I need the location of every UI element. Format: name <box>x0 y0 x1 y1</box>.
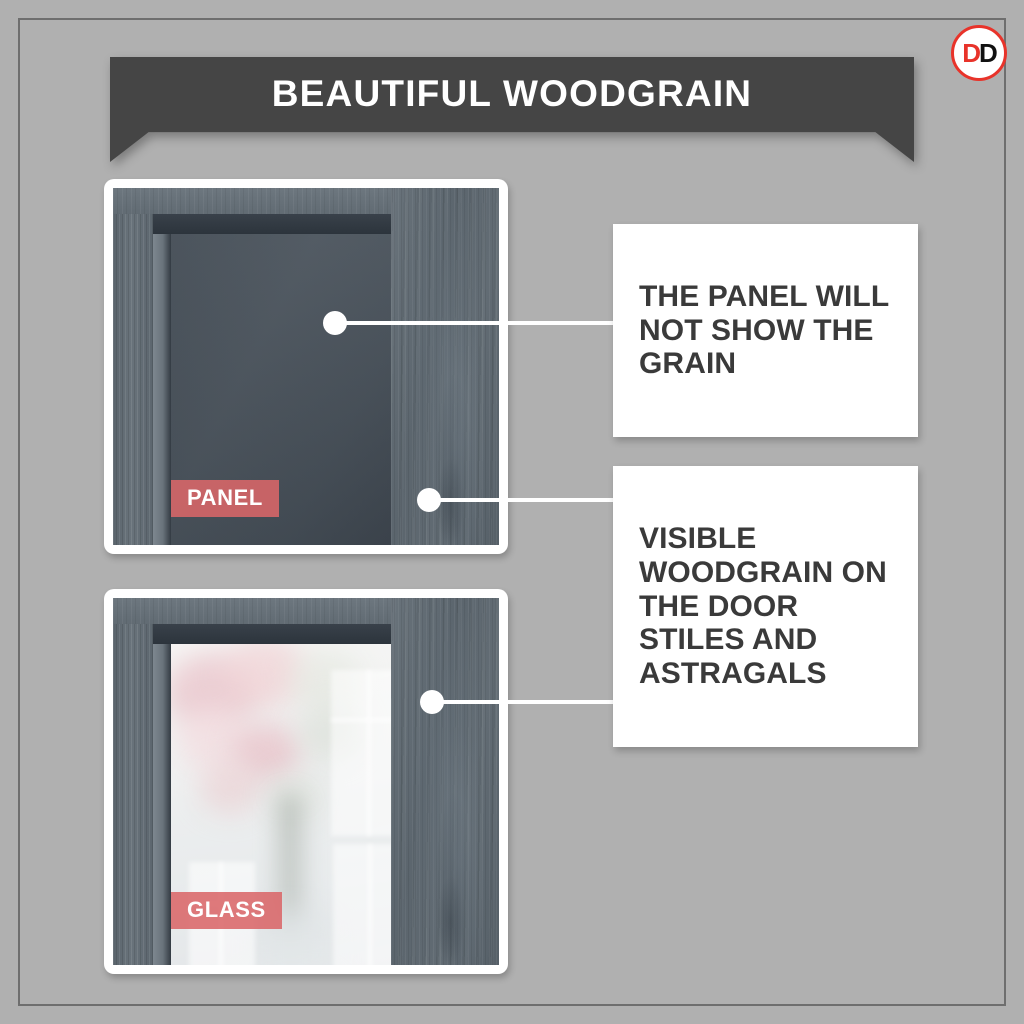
callout-text-grain: VISIBLE WOODGRAIN ON THE DOOR STILES AND… <box>613 522 918 691</box>
door-left-stile-glass <box>113 598 153 965</box>
glazing-bead-side <box>153 624 171 965</box>
connector-line-panel <box>334 321 619 325</box>
door-photo-panel: PANEL <box>113 188 499 545</box>
title-banner-shape: BEAUTIFUL WOODGRAIN <box>110 57 914 162</box>
connector-dot-grain-bottom <box>420 690 444 714</box>
door-right-stile-woodgrain <box>391 188 499 545</box>
label-badge-glass: GLASS <box>171 892 282 929</box>
door-right-stile-woodgrain-glass <box>391 598 499 965</box>
glazing-bead-top <box>153 624 391 644</box>
page-title: BEAUTIFUL WOODGRAIN <box>272 73 752 115</box>
connector-line-grain-top <box>428 498 619 502</box>
connector-dot-panel <box>323 311 347 335</box>
callout-card-grain: VISIBLE WOODGRAIN ON THE DOOR STILES AND… <box>613 466 918 747</box>
photo-card-glass: GLASS <box>104 589 508 974</box>
door-photo-glass: GLASS <box>113 598 499 965</box>
callout-card-panel: THE PANEL WILL NOT SHOW THE GRAIN <box>613 224 918 437</box>
title-banner: BEAUTIFUL WOODGRAIN <box>110 57 914 162</box>
connector-line-grain-bottom <box>431 700 619 704</box>
brand-logo: DD <box>951 25 1007 81</box>
callout-text-panel: THE PANEL WILL NOT SHOW THE GRAIN <box>613 280 918 382</box>
connector-dot-grain-top <box>417 488 441 512</box>
brand-letter-second: D <box>979 38 996 68</box>
door-left-stile <box>113 188 153 545</box>
label-badge-panel: PANEL <box>171 480 279 517</box>
infographic-canvas: DD BEAUTIFUL WOODGRAIN PANEL <box>0 0 1024 1024</box>
brand-letter-first: D <box>962 38 979 68</box>
brand-logo-text: DD <box>962 40 996 66</box>
door-panel-bevel <box>153 214 171 545</box>
door-panel-bevel-top <box>153 214 391 234</box>
